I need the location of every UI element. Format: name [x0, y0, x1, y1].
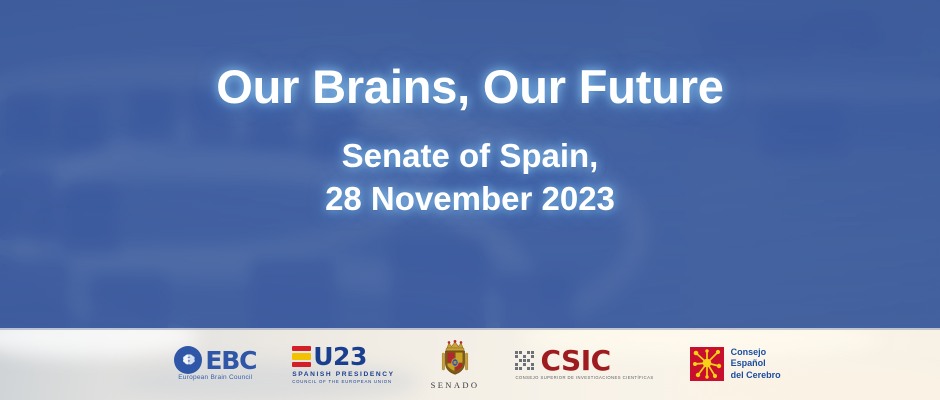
logo-csic[interactable]: CSIC CONSEJO SUPERIOR DE INVESTIGACIONES… — [515, 347, 653, 380]
banner-subtitle-line2: 28 November 2023 — [325, 178, 615, 221]
cec-caption-line3: del Cerebro — [731, 370, 781, 382]
logo-spanish-presidency[interactable]: U23 SPANISH PRESIDENCY COUNCIL OF THE EU… — [292, 344, 394, 385]
logo-row: EBC European Brain Council U23 SPANISH P… — [0, 328, 940, 400]
csic-caption: CONSEJO SUPERIOR DE INVESTIGACIONES CIEN… — [515, 376, 653, 380]
flag-bar-red — [292, 362, 311, 367]
eu23-caption-line2: COUNCIL OF THE EUROPEAN UNION — [292, 380, 392, 385]
logo-consejo-espanol-del-cerebro[interactable]: Consejo Español del Cerebro — [690, 347, 781, 382]
ebc-caption: European Brain Council — [178, 375, 252, 382]
banner-subtitle: Senate of Spain, 28 November 2023 — [325, 135, 615, 221]
eu23-caption-line1: SPANISH PRESIDENCY — [292, 371, 394, 378]
logo-senado[interactable]: SENADO — [431, 339, 480, 390]
csic-acronym: CSIC — [540, 347, 610, 375]
spanish-coat-of-arms-icon — [437, 339, 473, 379]
logo-ebc[interactable]: EBC European Brain Council — [174, 346, 256, 382]
cec-caption: Consejo Español del Cerebro — [731, 347, 781, 382]
csic-lockup: CSIC — [515, 347, 610, 375]
brain-in-circle-icon — [174, 346, 202, 374]
csic-grid-mark-icon — [515, 351, 535, 371]
sponsor-logo-bar: EBC European Brain Council U23 SPANISH P… — [0, 328, 940, 400]
eu23-lockup: U23 — [292, 344, 367, 369]
cec-caption-line1: Consejo — [731, 347, 781, 359]
eu23-acronym: U23 — [313, 344, 367, 369]
cec-caption-line2: Español — [731, 358, 781, 370]
ebc-acronym: EBC — [205, 348, 256, 373]
flag-bar-red — [292, 346, 311, 351]
banner-title: Our Brains, Our Future — [216, 62, 723, 113]
event-banner: Our Brains, Our Future Senate of Spain, … — [0, 0, 940, 400]
spanish-flag-e-icon — [292, 346, 311, 367]
flag-bar-yellow — [292, 353, 311, 360]
neuron-network-square-icon — [690, 347, 724, 381]
banner-subtitle-line1: Senate of Spain, — [342, 137, 599, 174]
ebc-lockup: EBC — [174, 346, 256, 374]
banner-text-block: Our Brains, Our Future Senate of Spain, … — [0, 0, 940, 328]
senado-caption: SENADO — [431, 381, 480, 390]
